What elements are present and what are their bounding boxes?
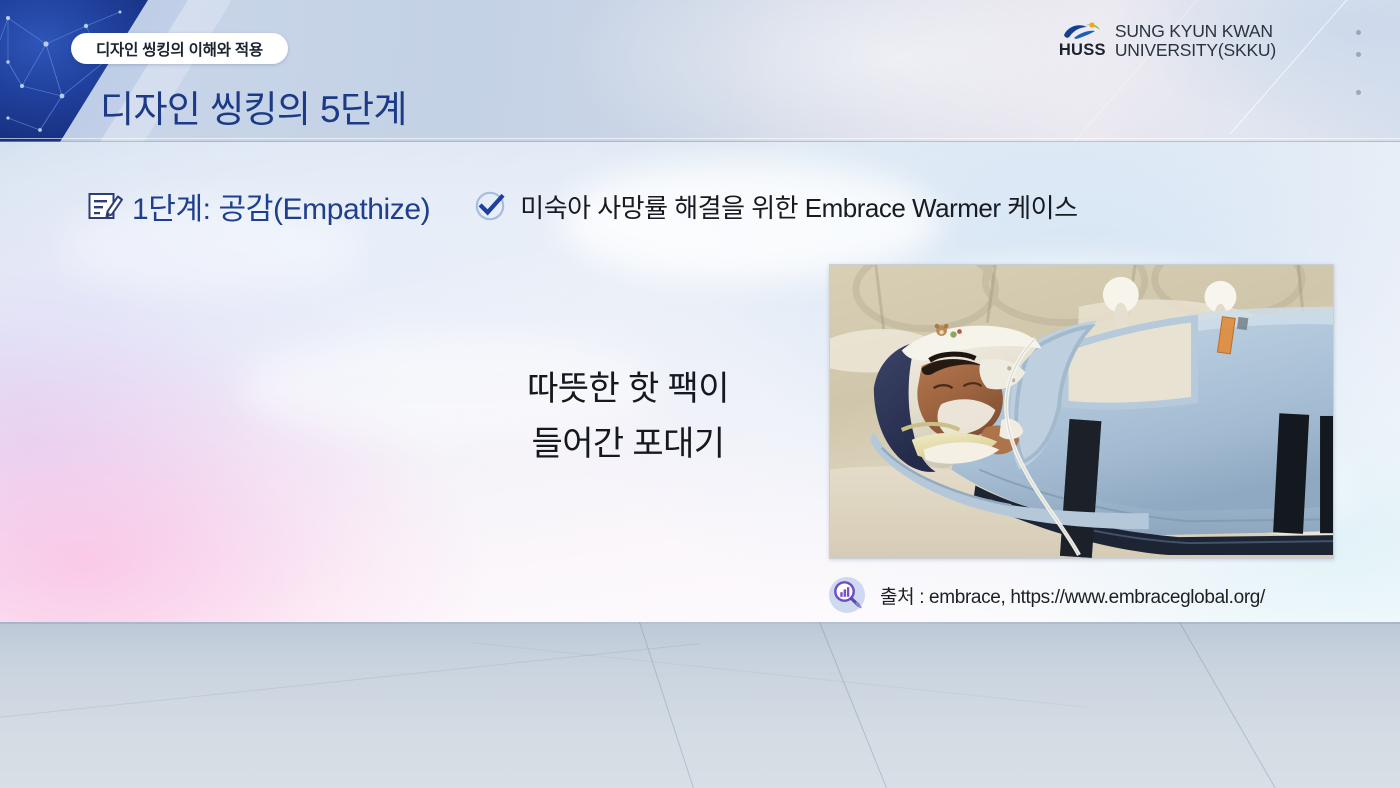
university-name-line2: UNIVERSITY(SKKU) [1115, 41, 1276, 60]
dot-icon [1356, 90, 1361, 95]
university-name: SUNG KYUN KWAN UNIVERSITY(SKKU) [1115, 22, 1276, 59]
memo-pencil-icon [86, 187, 124, 225]
dot-icon [1356, 52, 1361, 57]
slide-root: 디자인 씽킹의 이해와 적용 디자인 씽킹의 5단계 HUSS SUNG KYU… [0, 0, 1400, 788]
university-name-line1: SUNG KYUN KWAN [1115, 22, 1276, 41]
university-logo: HUSS SUNG KYUN KWAN UNIVERSITY(SKKU) [1059, 22, 1276, 59]
huss-logo-mark: HUSS [1059, 22, 1106, 59]
caption-block: 따뜻한 핫 팩이 들어간 포대기 [440, 362, 816, 472]
caption-line-2: 들어간 포대기 [440, 417, 816, 472]
step-heading-row: 1단계: 공감(Empathize) 미숙아 사망률 해결을 위한 Embrac… [86, 184, 1078, 228]
breadcrumb-label: 디자인 씽킹의 이해와 적용 [96, 38, 263, 60]
huss-wordmark: HUSS [1059, 42, 1106, 59]
caption-line-1: 따뜻한 핫 팩이 [440, 362, 816, 417]
magnifier-chart-icon [828, 576, 866, 614]
source-text: 출처 : embrace, https://www.embraceglobal.… [880, 582, 1265, 609]
case-title: 미숙아 사망률 해결을 위한 Embrace Warmer 케이스 [520, 188, 1077, 225]
dot-icon [1356, 30, 1361, 35]
check-circle-icon [473, 189, 507, 223]
breadcrumb-tab-pill[interactable]: 디자인 씽킹의 이해와 적용 [71, 33, 288, 64]
step-title: 1단계: 공감(Empathize) [132, 184, 430, 228]
page-title: 디자인 씽킹의 5단계 [100, 79, 407, 133]
case-photo [829, 264, 1334, 559]
huss-swoosh-icon [1061, 22, 1103, 41]
source-citation-row: 출처 : embrace, https://www.embraceglobal.… [828, 576, 1265, 614]
embrace-warmer-photo [830, 265, 1333, 558]
